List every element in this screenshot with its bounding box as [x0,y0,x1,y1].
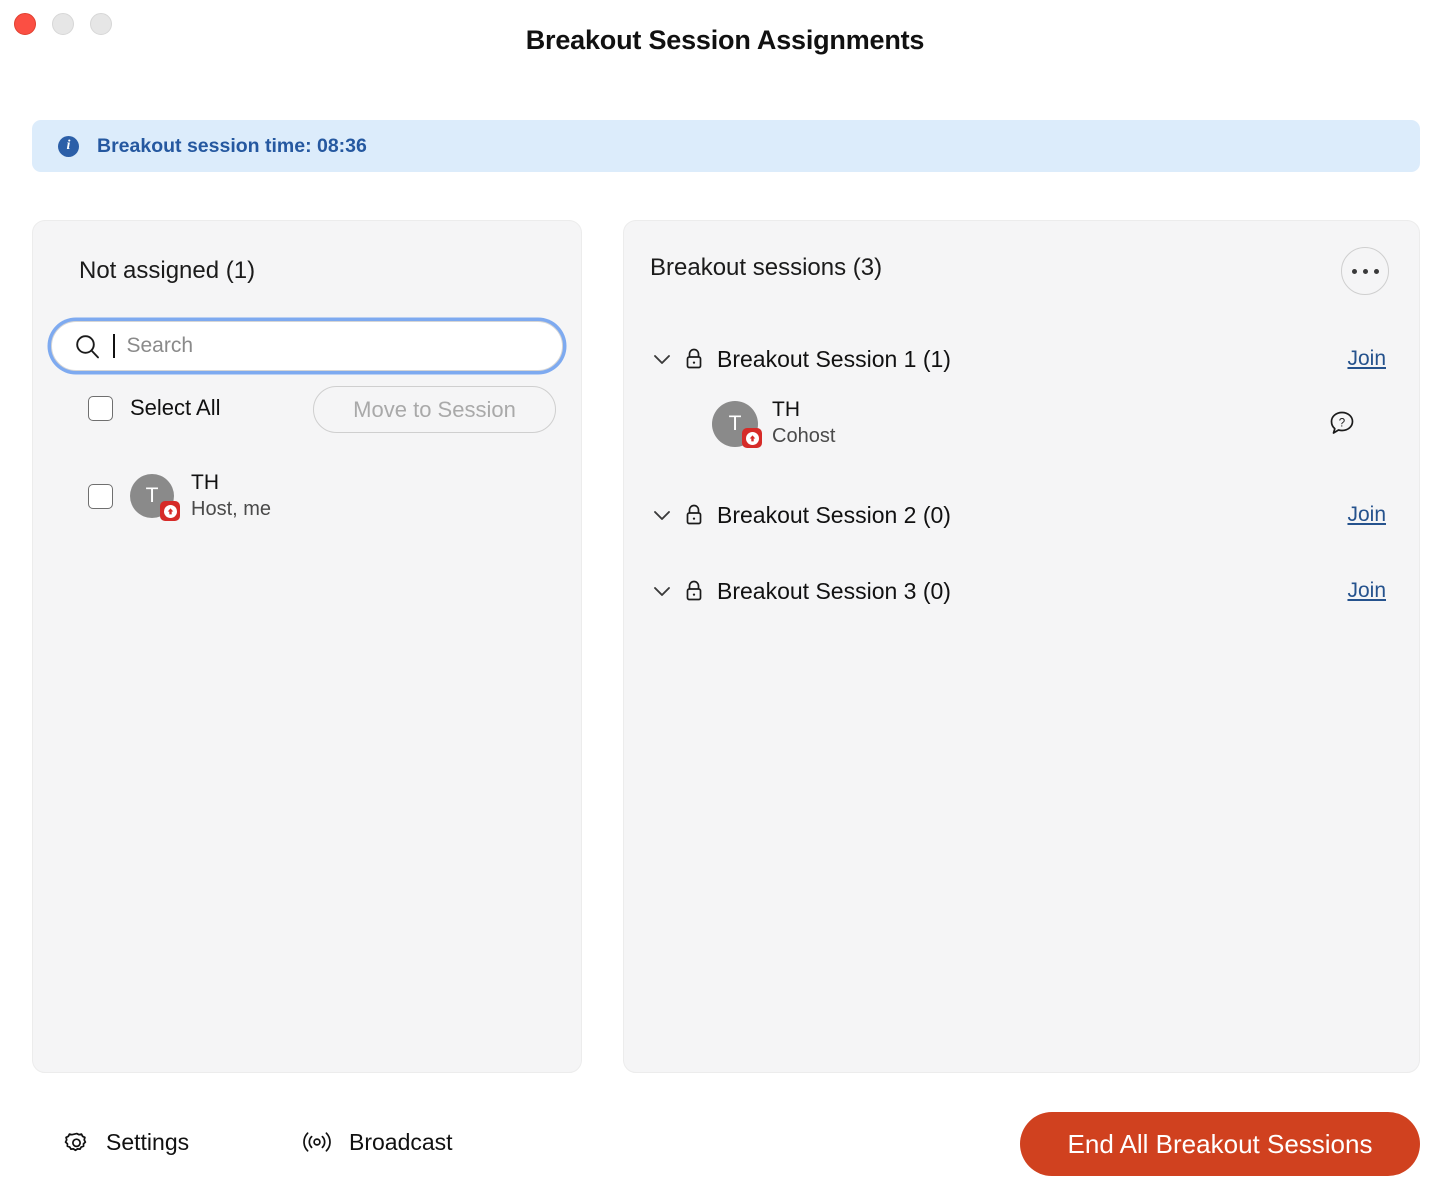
lock-icon [675,579,713,603]
participant-role: Host, me [191,498,271,521]
participant-checkbox[interactable] [88,484,113,509]
select-all-row[interactable]: Select All [88,395,221,421]
chevron-down-icon[interactable] [649,580,675,602]
info-icon: i [58,136,79,157]
not-assigned-heading: Not assigned (1) [79,257,255,285]
avatar: T [712,401,756,445]
window-titlebar: Breakout Session Assignments [0,0,1450,84]
list-item[interactable]: T TH Cohost ? [624,385,1419,461]
text-caret [113,334,115,358]
broadcast-label: Broadcast [349,1129,453,1156]
session-timer-text: Breakout session time: 08:36 [97,135,367,158]
dot-icon [1352,269,1357,274]
lock-icon [675,503,713,527]
breakout-sessions-panel: Breakout sessions (3) [623,220,1420,1073]
chevron-down-icon[interactable] [649,348,675,370]
select-all-label: Select All [130,395,221,421]
session-name: Breakout Session 2 (0) [717,502,951,529]
session-name: Breakout Session 3 (0) [717,578,951,605]
search-input[interactable]: Search [51,321,563,371]
join-session-link[interactable]: Join [1347,579,1386,603]
page-title: Breakout Session Assignments [0,25,1450,56]
breakout-sessions-heading: Breakout sessions (3) [650,254,882,282]
member-name: TH [772,398,835,422]
join-session-link[interactable]: Join [1347,347,1386,371]
session-row[interactable]: Breakout Session 2 (0) Join [624,489,1419,541]
lock-icon [675,347,713,371]
search-placeholder: Search [127,334,194,358]
session-list: Breakout Session 1 (1) Join T [624,333,1419,617]
move-to-session-button[interactable]: Move to Session [313,386,556,433]
share-screen-badge-icon [160,501,180,521]
list-item[interactable]: T TH Host, me [88,471,271,521]
not-assigned-panel: Not assigned (1) Search Select All Move … [32,220,582,1073]
dot-icon [1363,269,1368,274]
help-bubble-icon[interactable]: ? [1327,408,1357,438]
panels-container: Not assigned (1) Search Select All Move … [32,220,1420,1073]
member-role: Cohost [772,425,835,448]
session-row[interactable]: Breakout Session 3 (0) Join [624,565,1419,617]
join-session-link[interactable]: Join [1347,503,1386,527]
more-options-button[interactable] [1341,247,1389,295]
search-icon [74,333,101,360]
avatar: T [130,474,174,518]
dot-icon [1374,269,1379,274]
chevron-down-icon[interactable] [649,504,675,526]
participant-name: TH [191,471,271,495]
svg-text:?: ? [1339,417,1345,429]
broadcast-icon [300,1128,334,1156]
broadcast-button[interactable]: Broadcast [300,1128,453,1156]
footer-toolbar: Settings Broadcast End All Breakout Sess… [0,1100,1450,1188]
settings-button[interactable]: Settings [62,1128,189,1157]
settings-label: Settings [106,1129,189,1156]
session-timer-banner: i Breakout session time: 08:36 [32,120,1420,172]
session-row[interactable]: Breakout Session 1 (1) Join [624,333,1419,385]
select-all-checkbox[interactable] [88,396,113,421]
end-all-breakout-sessions-button[interactable]: End All Breakout Sessions [1020,1112,1420,1176]
share-screen-badge-icon [742,428,762,448]
gear-icon [62,1128,91,1157]
session-name: Breakout Session 1 (1) [717,346,951,373]
